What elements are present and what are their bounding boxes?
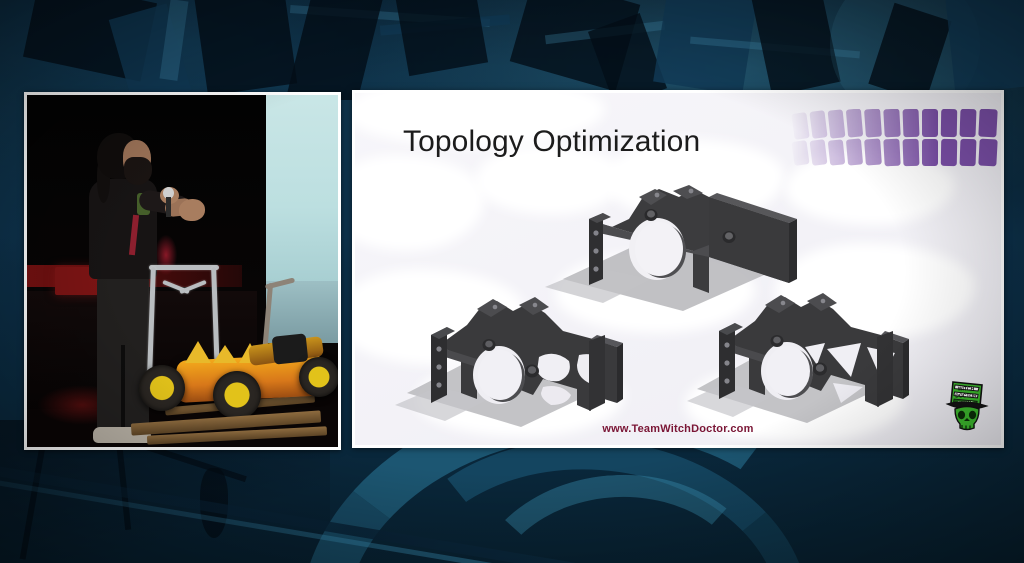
slide-title: Topology Optimization	[403, 125, 700, 159]
video-frame: Topology Optimization	[0, 0, 1024, 563]
logo-text-witch: WITCH	[958, 387, 975, 393]
slide-blob-1	[355, 155, 485, 251]
witch-doctor-logo: WITCH DOCTOR SHAMAN	[945, 379, 989, 431]
tire-tread-icon	[789, 109, 1001, 171]
overhead-rig-silhouettes	[0, 0, 1024, 100]
logo-text-doctor: DOCTOR	[955, 394, 977, 400]
slide-footer-url[interactable]: www.TeamWitchDoctor.com	[355, 423, 1001, 435]
bracket-optimized-organic	[393, 283, 653, 433]
robot-wheel-mid	[213, 371, 261, 419]
microphone-body	[166, 197, 171, 217]
robot-motor-block	[272, 333, 309, 364]
speaker-camera-feed	[24, 92, 341, 450]
presenter-hand-right	[179, 199, 205, 221]
bracket-optimized-truss	[685, 281, 935, 427]
cart-handle	[149, 265, 219, 270]
presenter-leg-split	[121, 345, 125, 433]
speaker-photo-content	[27, 95, 338, 447]
slide-canvas: Topology Optimization	[355, 93, 1001, 445]
presentation-slide: Topology Optimization	[352, 90, 1004, 448]
robot-wheel-rear	[299, 357, 338, 397]
robot-wheel-front	[139, 365, 185, 411]
